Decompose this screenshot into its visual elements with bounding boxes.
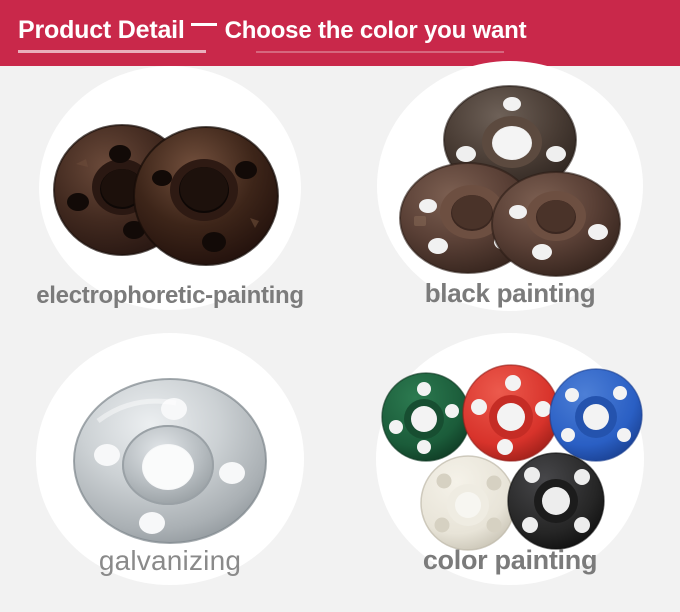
banner-text-group: Product Detail Choose the color you want — [18, 16, 526, 45]
flange-photo-electrophoretic-painting — [30, 78, 310, 298]
page-subtitle: Choose the color you want — [225, 17, 527, 45]
flange-photo-color-painting — [370, 351, 650, 571]
finish-label: color painting — [340, 545, 680, 576]
flange-single — [74, 379, 266, 543]
flange-red — [463, 365, 559, 461]
flange-black — [508, 453, 604, 549]
flange-bottom-right — [492, 172, 620, 276]
product-detail-page: Product Detail Choose the color you want — [0, 0, 680, 612]
finish-cell-electrophoretic-painting[interactable]: electrophoretic-painting — [0, 66, 340, 339]
finish-grid: electrophoretic-painting — [0, 66, 680, 612]
flange-photo-black-painting — [370, 78, 650, 298]
finish-label: electrophoretic-painting — [0, 282, 340, 310]
flange-right — [134, 127, 278, 265]
title-separator-dash — [191, 23, 217, 26]
flange-blue — [550, 369, 642, 461]
subtitle-underline — [256, 51, 504, 53]
finish-cell-galvanizing[interactable]: galvanizing — [0, 339, 340, 612]
finish-label: black painting — [340, 278, 680, 309]
page-title: Product Detail — [18, 16, 185, 45]
finish-cell-color-painting[interactable]: color painting — [340, 339, 680, 612]
flange-photo-galvanizing — [30, 351, 310, 571]
section-header-banner: Product Detail Choose the color you want — [0, 0, 680, 66]
finish-label: galvanizing — [0, 545, 340, 577]
flange-cream — [421, 456, 515, 550]
title-underline — [18, 50, 206, 53]
flange-green — [382, 373, 470, 461]
finish-cell-black-painting[interactable]: black painting — [340, 66, 680, 339]
